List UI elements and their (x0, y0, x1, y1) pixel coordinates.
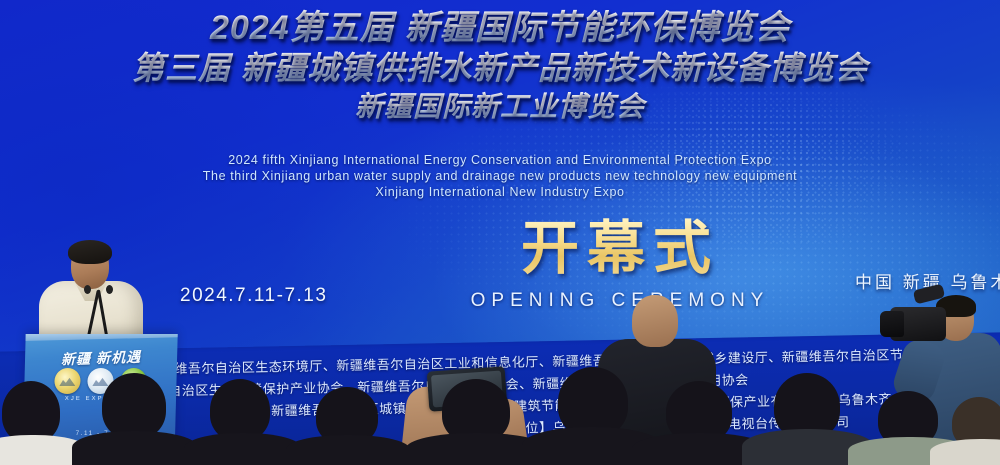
camera-lens-icon (880, 311, 904, 337)
english-subtitle-block: 2024 fifth Xinjiang International Energy… (0, 152, 1000, 200)
gold-emblem-icon (54, 368, 81, 394)
podium-top-edge (22, 334, 177, 341)
ceremony-title-block: 开幕式 OPENING CEREMONY (455, 218, 785, 312)
headline-line-2: 第三届 新疆城镇供排水新产品新技术新设备博览会 (0, 48, 1000, 88)
podium-emblem-row (24, 368, 177, 394)
podium-brand-text: 新疆 新机遇 (25, 345, 177, 370)
ceremony-title-cn: 开幕式 (455, 218, 785, 280)
microphone-left-capsule (84, 285, 91, 294)
english-line-3: Xinjiang International New Industry Expo (0, 184, 1000, 200)
english-line-1: 2024 fifth Xinjiang International Energy… (0, 152, 1000, 168)
podium-sub-text: XJE EXPO 2024 (24, 396, 176, 402)
speaker-hair (68, 240, 112, 264)
expo-headline-block: 2024第五届 新疆国际节能环保博览会 第三届 新疆城镇供排水新产品新技术新设备… (0, 8, 1000, 126)
ceremony-title-en: OPENING CEREMONY (455, 290, 785, 312)
headline-line-1: 2024第五届 新疆国际节能环保博览会 (0, 8, 1000, 48)
event-date: 2024.7.11-7.13 (180, 285, 380, 307)
podium-place-text: 乌鲁木齐 (23, 442, 175, 451)
cameraman-hair (936, 295, 976, 317)
green-emblem-icon (120, 368, 147, 394)
microphone-right-capsule (106, 285, 113, 294)
silver-emblem-icon (87, 368, 114, 394)
podium-lectern: 新疆 新机遇 XJE EXPO 2024 7.11 - 7.13 乌鲁木齐 (22, 334, 177, 465)
headline-line-3: 新疆国际新工业博览会 (0, 88, 1000, 126)
opening-ceremony-photo: 2024第五届 新疆国际节能环保博览会 第三届 新疆城镇供排水新产品新技术新设备… (0, 0, 1000, 465)
podium-date-text: 7.11 - 7.13 (23, 430, 175, 437)
event-city: 中国 新疆 乌鲁木齐 (855, 268, 1000, 293)
english-line-2: The third Xinjiang urban water supply an… (0, 168, 1000, 184)
